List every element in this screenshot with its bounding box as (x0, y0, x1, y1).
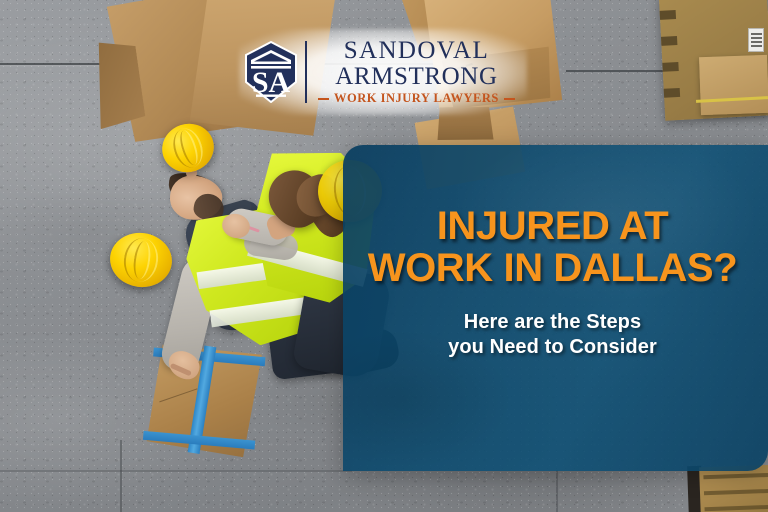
svg-text:SA: SA (252, 66, 291, 99)
pallet-notch (661, 36, 677, 46)
tagline-dash-right (504, 98, 515, 100)
logo-name-line-2: ARMSTRONG (318, 64, 515, 90)
tagline-dash-left (318, 98, 329, 100)
overlay-copy-block: INJURED AT WORK IN DALLAS? Here are the … (343, 205, 762, 361)
tagline-text: WORK INJURY LAWYERS (334, 91, 499, 106)
logo-lockup[interactable]: SA SANDOVAL ARMSTRONG WORK INJURY LAWYER… (243, 31, 523, 113)
logo-tagline: WORK INJURY LAWYERS (318, 91, 515, 106)
floor-seam-line (556, 470, 558, 512)
pallet-notch (660, 10, 676, 20)
pallet-slat (704, 489, 768, 495)
logo-divider (305, 41, 307, 103)
headline: INJURED AT WORK IN DALLAS? (343, 205, 762, 290)
text-overlay-panel: INJURED AT WORK IN DALLAS? Here are the … (343, 145, 768, 471)
floor-seam-line (0, 470, 352, 472)
floor-seam-line (120, 440, 122, 512)
pallet-notch (662, 62, 678, 72)
shield-courthouse-icon: SA (243, 41, 299, 103)
pallet-notch (664, 88, 680, 98)
subheadline: Here are the Steps you Need to Consider (343, 310, 762, 361)
shipping-label (748, 28, 764, 52)
marketing-banner: INJURED AT WORK IN DALLAS? Here are the … (0, 0, 768, 512)
wooden-pallet (699, 465, 768, 512)
logo-name-line-1: SANDOVAL (318, 38, 515, 64)
pallet-slat (705, 505, 768, 511)
pallet-slat (703, 473, 768, 479)
logo-wordmark: SANDOVAL ARMSTRONG WORK INJURY LAWYERS (318, 38, 515, 106)
cardboard-box (699, 55, 768, 115)
